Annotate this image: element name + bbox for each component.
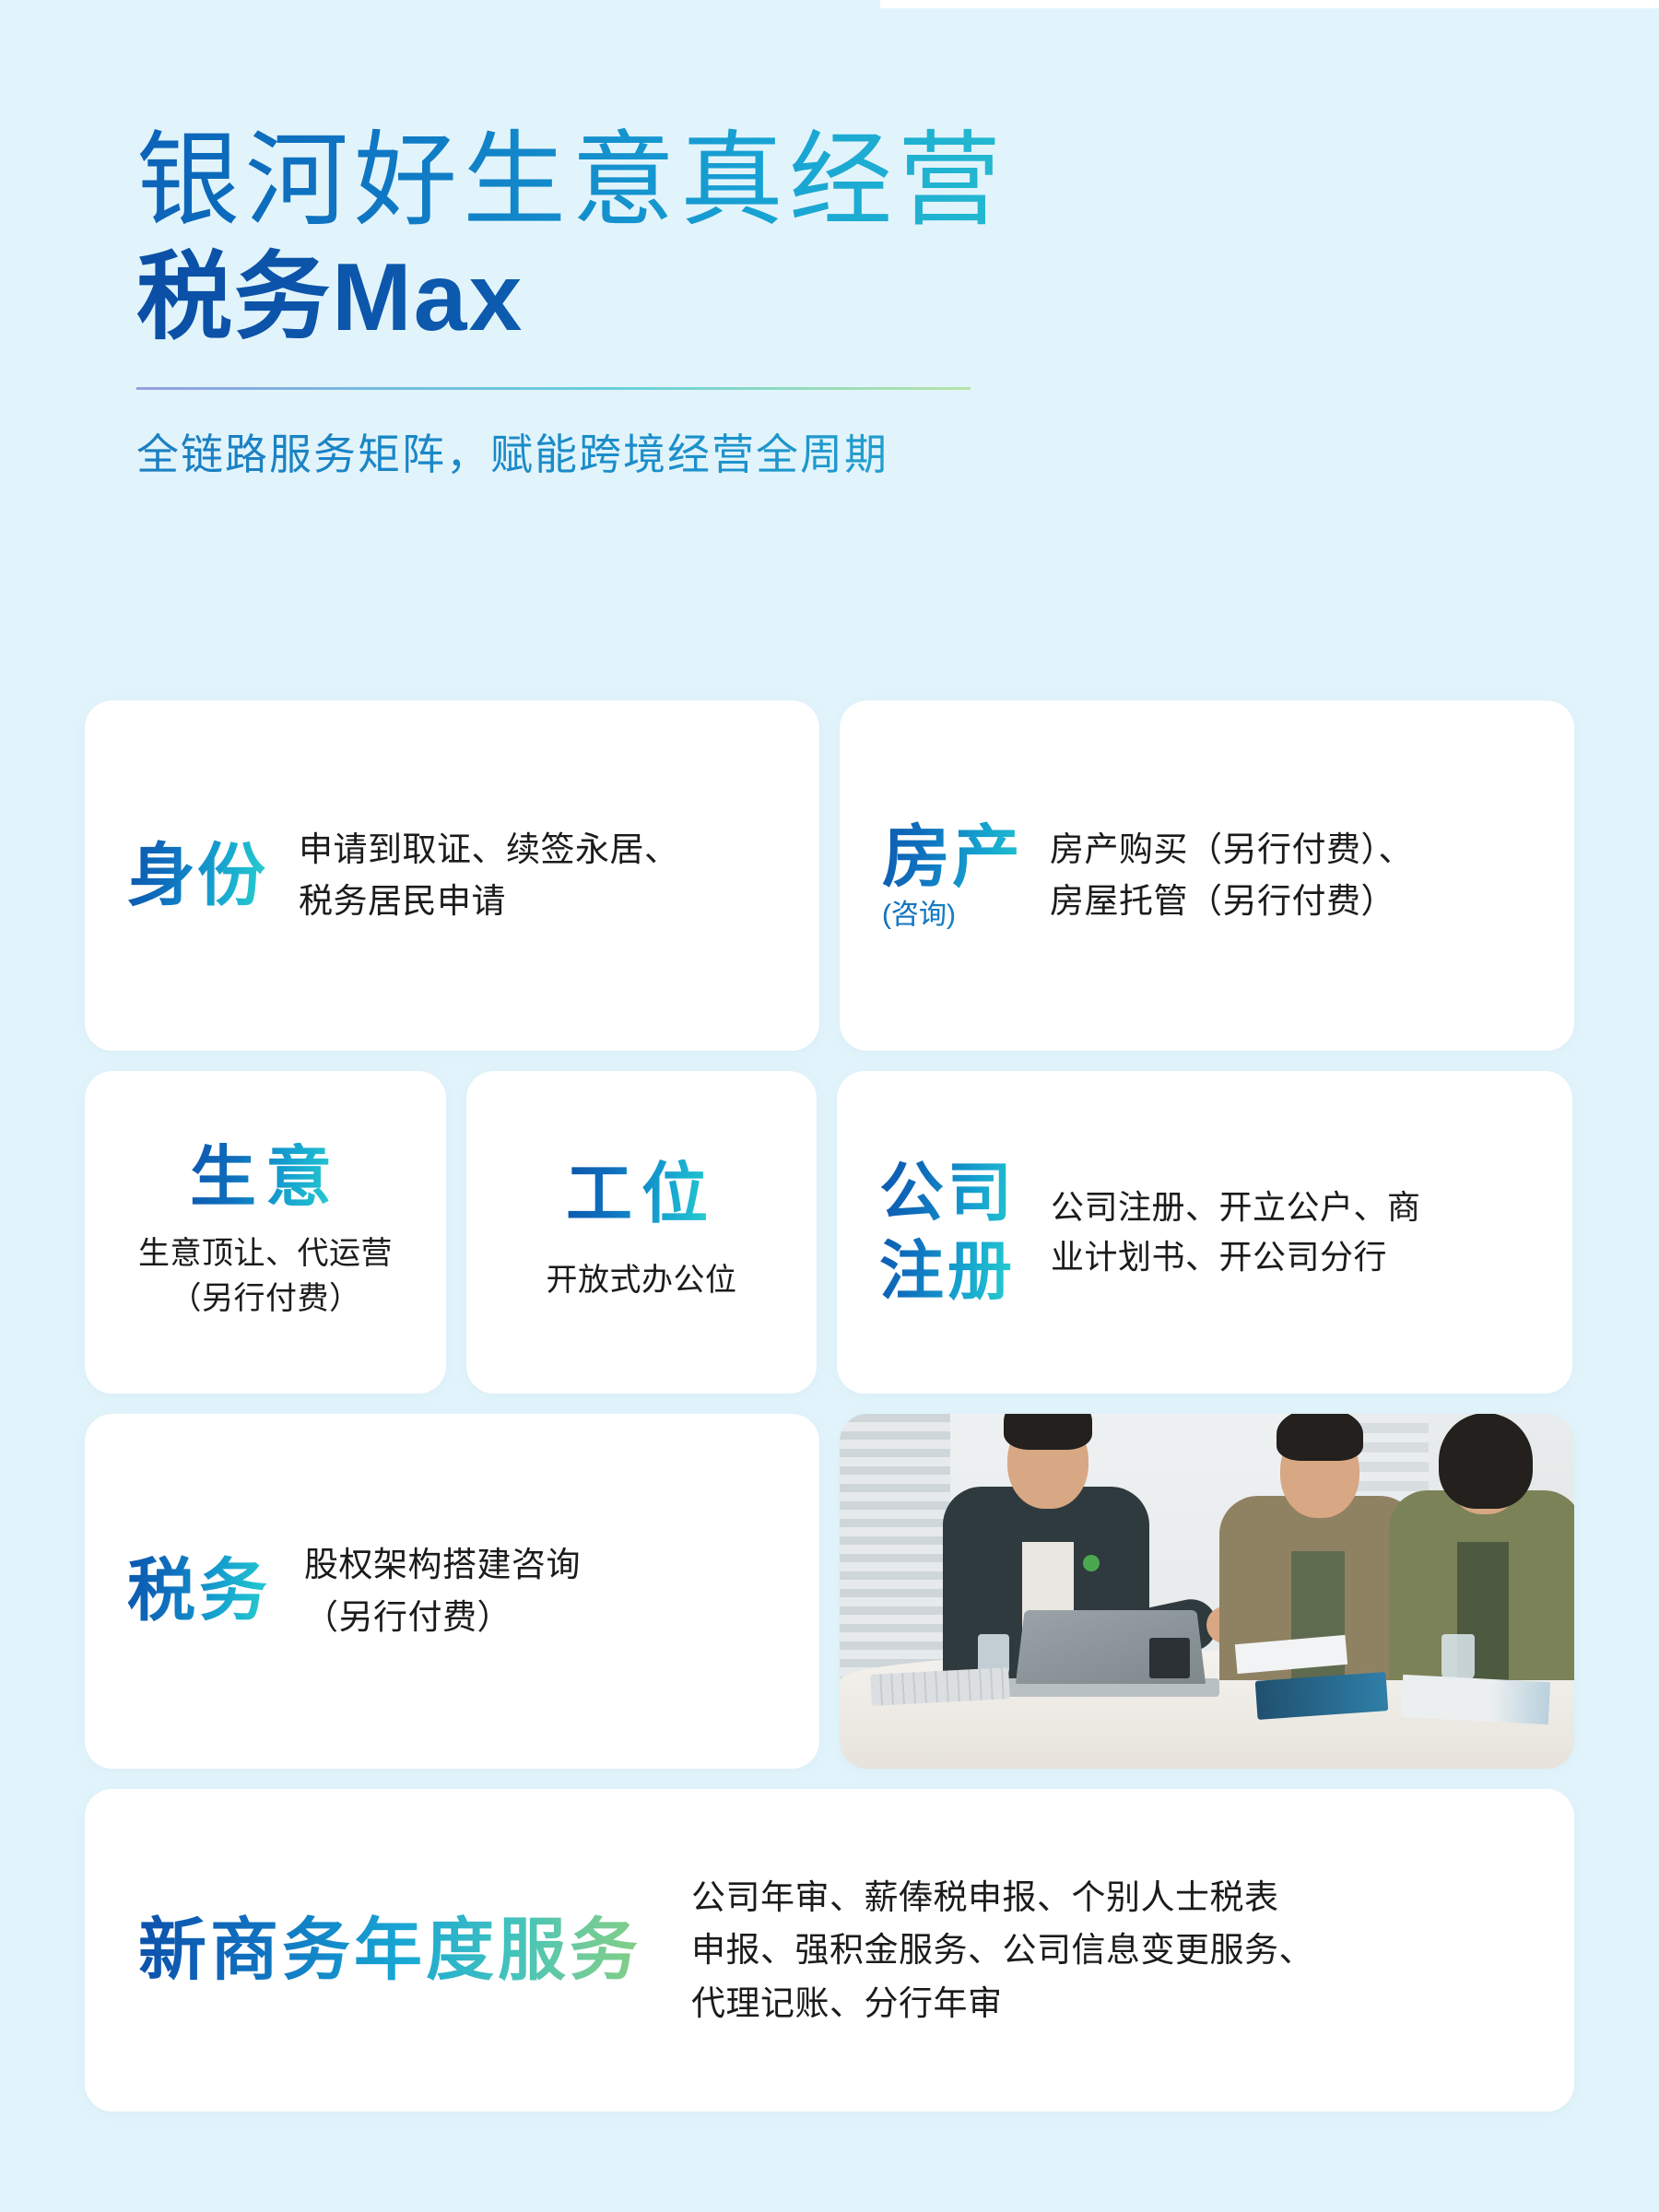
page-subtitle: 全链路服务矩阵，赋能跨境经营全周期: [136, 421, 1519, 482]
card-row-3: 税务 股权架构搭建咨询 （另行付费）: [85, 1414, 1574, 1769]
card-identity-title: 身份: [127, 840, 267, 912]
card-annual-service[interactable]: 新商务年度服务 公司年审、薪俸税申报、个别人士税表 申报、强积金服务、公司信息变…: [85, 1789, 1574, 2112]
service-card-grid: 身份 申请到取证、续签永居、 税务居民申请 房产 (咨询) 房产购买（另行付费）…: [85, 700, 1574, 2132]
top-white-strip: [880, 0, 1659, 8]
page-title-line-1: 银河好生意真经营: [136, 120, 1519, 241]
photo-person-advisor-badge: [1083, 1555, 1100, 1571]
photo-pen-holder: [1149, 1638, 1190, 1678]
business-meeting-photo: [840, 1414, 1574, 1769]
card-row-4: 新商务年度服务 公司年审、薪俸税申报、个别人士税表 申报、强积金服务、公司信息变…: [85, 1789, 1574, 2112]
card-identity[interactable]: 身份 申请到取证、续签永居、 税务居民申请: [85, 700, 819, 1051]
card-business-title: 生意: [190, 1143, 341, 1213]
card-tax[interactable]: 税务 股权架构搭建咨询 （另行付费）: [85, 1414, 819, 1769]
card-annual-service-title: 新商务年度服务: [138, 1914, 641, 1986]
card-desk-title: 工位: [566, 1159, 717, 1230]
card-photo: [840, 1414, 1574, 1769]
photo-person-client-female-hair: [1439, 1414, 1533, 1509]
card-business[interactable]: 生意 生意顶让、代运营 （另行付费）: [85, 1071, 446, 1394]
card-business-desc: 生意顶让、代运营 （另行付费）: [138, 1231, 393, 1323]
card-registration-title: 公司 注册: [879, 1154, 1016, 1312]
header-divider: [136, 387, 971, 390]
photo-water-glass-right: [1441, 1634, 1475, 1680]
poster-header: 银河好生意真经营 税务Max 全链路服务矩阵，赋能跨境经营全周期: [136, 120, 1519, 482]
card-registration-desc: 公司注册、开立公户、商 业计划书、开公司分行: [1051, 1182, 1421, 1282]
card-annual-service-desc: 公司年审、薪俸税申报、个别人士税表 申报、强积金服务、公司信息变更服务、 代理记…: [691, 1871, 1313, 2030]
card-row-2: 生意 生意顶让、代运营 （另行付费） 工位 开放式办公位 公司 注册 公司注册、…: [85, 1071, 1574, 1394]
card-desk-desc: 开放式办公位: [547, 1257, 737, 1305]
card-registration[interactable]: 公司 注册 公司注册、开立公户、商 业计划书、开公司分行: [837, 1071, 1572, 1394]
photo-person-client-male-hair: [1277, 1414, 1363, 1461]
photo-person-advisor-hair: [1004, 1414, 1092, 1450]
card-property-note: (咨询): [882, 900, 1022, 930]
card-desk[interactable]: 工位 开放式办公位: [466, 1071, 817, 1394]
poster-page: 银河好生意真经营 税务Max 全链路服务矩阵，赋能跨境经营全周期 身份 申请到取…: [0, 0, 1659, 2212]
card-tax-title: 税务: [127, 1555, 271, 1627]
card-tax-desc: 股权架构搭建咨询 （另行付费）: [304, 1539, 581, 1642]
photo-paper-sheet: [1401, 1675, 1550, 1724]
card-property-desc: 房产购买（另行付费）、 房屋托管（另行付费）: [1050, 824, 1413, 927]
card-property[interactable]: 房产 (咨询) 房产购买（另行付费）、 房屋托管（另行付费）: [840, 700, 1574, 1051]
card-row-1: 身份 申请到取证、续签永居、 税务居民申请 房产 (咨询) 房产购买（另行付费）…: [85, 700, 1574, 1051]
page-title-line-2: 税务Max: [136, 243, 1519, 354]
card-property-title-text: 房产: [882, 818, 1022, 895]
card-identity-desc: 申请到取证、续签永居、 税务居民申请: [299, 824, 679, 927]
card-property-title: 房产 (咨询): [882, 748, 1022, 1002]
